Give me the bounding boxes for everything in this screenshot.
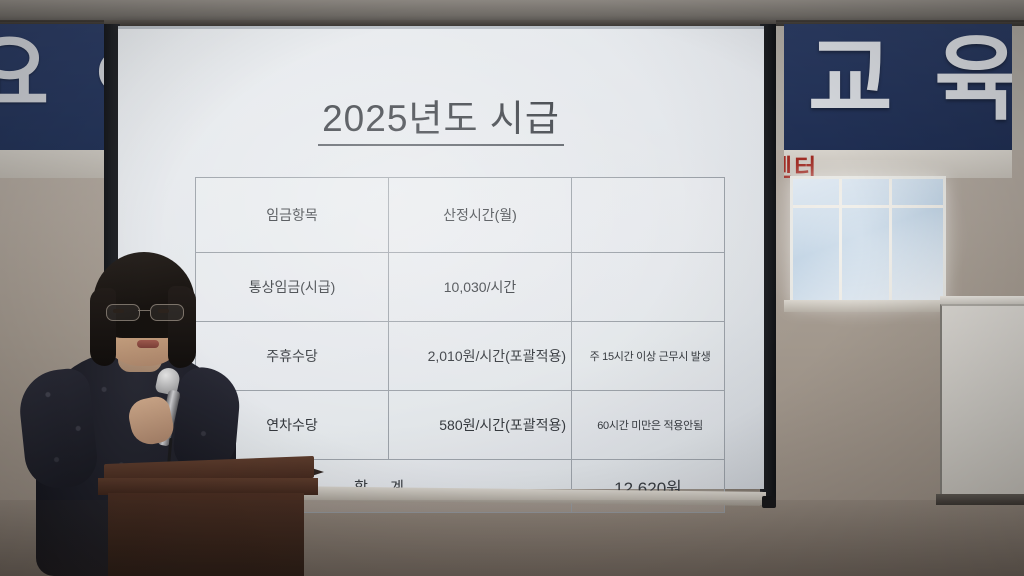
window-sill	[784, 300, 950, 312]
window-mullion-vertical-1	[839, 179, 842, 305]
speaker-mouth	[137, 340, 159, 348]
header-cell-item: 임금항목	[196, 178, 389, 253]
row-amount-2: 580원/시간(포괄적용)	[389, 391, 572, 460]
glasses-bridge	[138, 310, 150, 311]
banner-left-text: 요 ㅇ	[0, 32, 104, 118]
banner-left-strip	[0, 150, 104, 178]
slide-title: 2025년도 시급	[118, 88, 764, 142]
speaker-hair-left	[90, 288, 116, 366]
slide-title-text: 2025년도 시급	[318, 98, 564, 146]
speaker-hair-right	[168, 286, 196, 368]
header-cell-hours: 산정시간(월)	[389, 178, 572, 253]
row-item-0: 통상임금(시급)	[196, 253, 389, 322]
row-note-2: 60시간 미만은 적용안됨	[572, 391, 725, 460]
row-note-1: 주 15시간 이상 근무시 발생	[572, 322, 725, 391]
table-row: 주휴수당 2,010원/시간(포괄적용) 주 15시간 이상 근무시 발생	[196, 322, 725, 391]
banner-right-strip: 센터	[784, 150, 1012, 178]
banner-right: 교 육	[784, 24, 1012, 152]
wall-shadow	[0, 500, 1024, 576]
banner-right-subtext: 센터	[784, 150, 818, 178]
banner-left: 요 ㅇ	[0, 24, 104, 150]
speaker-eye-right	[158, 309, 169, 313]
window	[790, 176, 946, 308]
header-cell-note	[572, 178, 725, 253]
window-mullion-vertical-2	[889, 179, 892, 305]
row-amount-0: 10,030/시간	[389, 253, 572, 322]
speaker-eye-left	[113, 309, 124, 313]
row-note-0	[572, 253, 725, 322]
banner-right-text: 교 육	[808, 32, 1012, 129]
table-header-row: 임금항목 산정시간(월)	[196, 178, 725, 253]
presentation-photo-scene: 요 ㅇ 교 육 센터 2025년도 시급 임금항목 산정시간(월)	[0, 0, 1024, 576]
whiteboard	[940, 304, 1024, 502]
row-amount-1: 2,010원/시간(포괄적용)	[389, 322, 572, 391]
window-glass	[793, 179, 943, 305]
window-mullion-horizontal	[793, 205, 943, 208]
table-row: 통상임금(시급) 10,030/시간	[196, 253, 725, 322]
table-row: 연차수당 580원/시간(포괄적용) 60시간 미만은 적용안됨	[196, 391, 725, 460]
